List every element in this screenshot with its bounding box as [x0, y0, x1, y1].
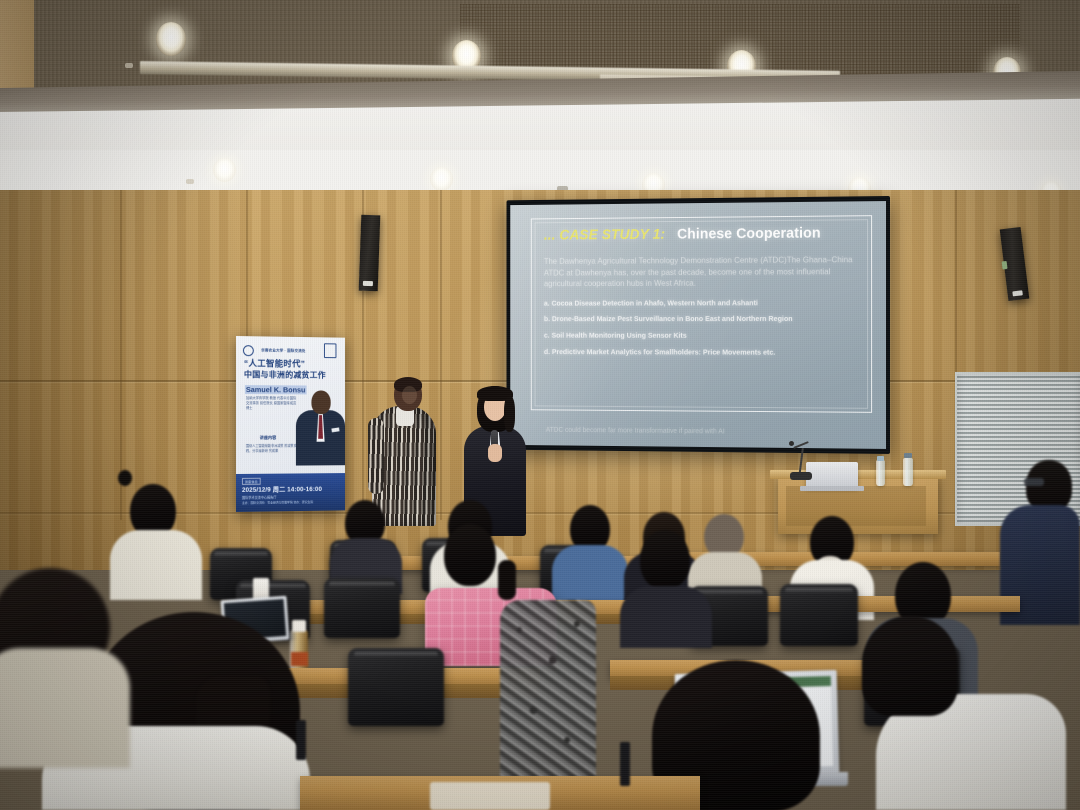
- wall-speaker-left: [359, 215, 381, 292]
- smoke-detector-icon: [186, 179, 194, 184]
- eyeglasses-icon: [1024, 478, 1044, 486]
- presenter-laptop-base: [800, 486, 864, 491]
- projected-slide: ... CASE STUDY 1: Chinese Cooperation Th…: [510, 201, 886, 449]
- projection-screen: ... CASE STUDY 1: Chinese Cooperation Th…: [507, 196, 890, 454]
- poster-logo-row: 华南农业大学 · 国际交流处: [243, 342, 338, 355]
- presenter-man-face-highlight: [402, 386, 417, 404]
- papers-on-desk: [430, 782, 550, 810]
- water-bottle: [876, 460, 885, 486]
- chair: [348, 648, 444, 726]
- water-bottle: [903, 458, 913, 486]
- audience-body: [552, 545, 628, 601]
- slide-heading: ... CASE STUDY 1: Chinese Cooperation: [544, 225, 864, 243]
- audience-head: [640, 530, 690, 590]
- poster-organizer: 主办：国际交流处 · 农业经济与管理学院 协办：研究生院: [242, 500, 341, 505]
- slide-heading-accent: CASE STUDY 1:: [559, 227, 665, 243]
- chair: [780, 584, 858, 646]
- presenter-laptop: [806, 462, 858, 488]
- bottle-label: [291, 652, 308, 666]
- poster-title-line1: “人工智能时代”: [244, 358, 337, 370]
- presenter-man-arm: [368, 418, 384, 494]
- foreground-audience-body: [0, 648, 130, 768]
- slide-bullet-item: c. Soil Health Monitoring Using Sensor K…: [544, 331, 864, 341]
- poster-title: “人工智能时代” 中国与非洲的减贫工作: [244, 358, 337, 381]
- chair: [324, 578, 400, 638]
- hair-tie: [118, 470, 132, 486]
- poster-info-band: 讲座信息 2025/12/9 周二 14:00-16:00 国际学术交流中心报告…: [236, 473, 345, 512]
- foreground-audience-head: [862, 616, 958, 716]
- microphone-icon: [789, 441, 794, 446]
- wall-shadow-left: [0, 190, 250, 570]
- audience-body: [620, 586, 712, 648]
- slide-heading-dots: ...: [544, 228, 556, 244]
- poster-speaker-meta: 加纳大学商学院 教授 代表中方国际交流事务 前任院长 原国家智库成员 博士: [246, 396, 297, 412]
- slide-bullet-list: a. Cocoa Disease Detection in Ahafo, Wes…: [544, 298, 864, 357]
- lecture-hall-photo: ... CASE STUDY 1: Chinese Cooperation Th…: [0, 0, 1080, 810]
- poster-datetime: 2025/12/9 周二 14:00-16:00: [242, 484, 322, 494]
- audience-body: [110, 530, 202, 600]
- bottle-cap: [292, 620, 306, 632]
- presenter-man: [372, 378, 436, 526]
- slide-bullet-item: b. Drone-Based Maize Pest Surveillance i…: [544, 314, 864, 324]
- slide-heading-main: Chinese Cooperation: [677, 226, 821, 243]
- smoke-detector-icon: [125, 63, 133, 68]
- poster-section-label: 讲座内容: [260, 435, 276, 441]
- ceiling-downlight-icon: [156, 22, 186, 56]
- slide-body-paragraph: The Dawhenya Agricultural Technology Dem…: [544, 254, 864, 290]
- poster-abstract: 围绕人工智能赋能非洲减贫 的减贫实践，分享最新研 究成果: [246, 444, 299, 454]
- presenter-woman-hair-side: [504, 396, 515, 432]
- slide-bullet-item: d. Predictive Market Analytics for Small…: [544, 347, 864, 357]
- bottle-cap: [877, 456, 884, 461]
- secondary-logo-icon: [324, 343, 336, 358]
- ceiling-downlight-icon: [213, 158, 236, 182]
- ceiling-downlight-icon: [430, 167, 453, 191]
- poster-speaker-photo: [295, 388, 345, 465]
- audience-hair-strand: [498, 560, 516, 600]
- presenter-woman-hands: [488, 444, 502, 462]
- slide-content: ... CASE STUDY 1: Chinese Cooperation Th…: [544, 225, 864, 405]
- poster-title-line2: 中国与非洲的减贫工作: [244, 369, 337, 381]
- event-poster: 华南农业大学 · 国际交流处 “人工智能时代” 中国与非洲的减贫工作 Samue…: [236, 336, 345, 512]
- lectern-front-panel: [786, 486, 926, 526]
- poster-university-name: 华南农业大学 · 国际交流处: [261, 349, 305, 355]
- slide-bullet-item: a. Cocoa Disease Detection in Ahafo, Wes…: [544, 298, 864, 308]
- bottle-cap: [904, 453, 912, 458]
- university-logo-icon: [243, 345, 254, 356]
- microphone-base: [790, 472, 812, 480]
- chair-post: [620, 742, 630, 786]
- audience-head: [444, 524, 496, 586]
- patterned-coat-person: [500, 600, 596, 800]
- poster-location: 国际学术交流中心报告厅: [242, 494, 277, 499]
- chair-post: [296, 720, 306, 760]
